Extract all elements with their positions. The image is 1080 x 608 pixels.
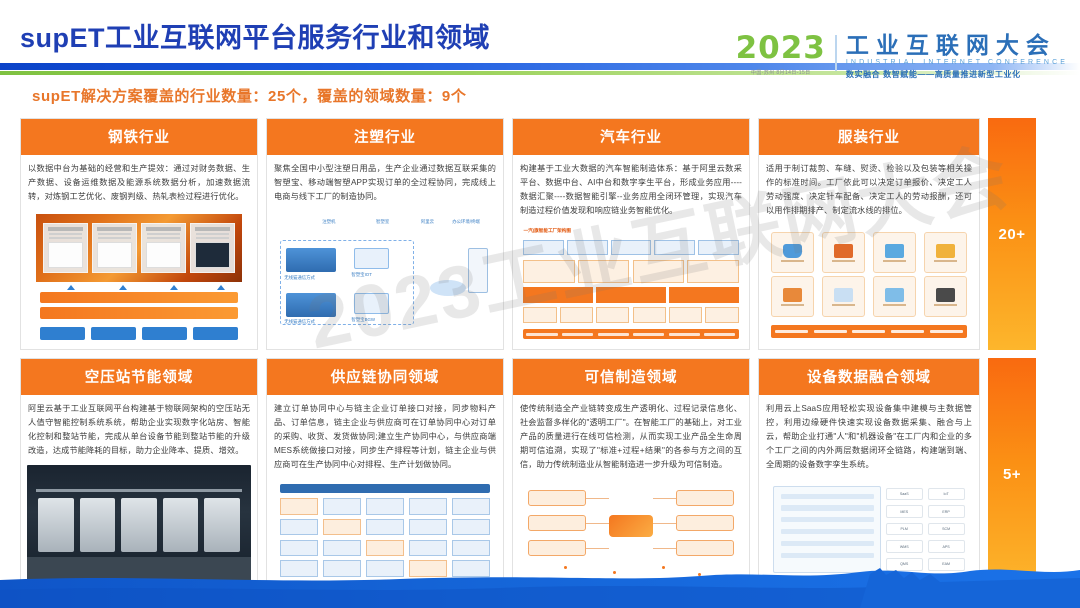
figure-label: 办公环境/终端 [452, 219, 480, 225]
card-description: 以数据中台为基础的经营和生产提效：通过对财务数据、生产数据、设备运维数据及能源系… [21, 155, 257, 207]
figure-injection-network: 注塑机 智塑室 阿里云 办公环境/终端 无线猫通信方式 无线猫通信方式 智塑宝I… [273, 211, 497, 343]
platform-logo: SaaS [886, 488, 923, 501]
platform-logo: MES [886, 505, 923, 518]
figure-label: 无线猫通信方式 [284, 319, 315, 325]
card-description: 使传统制造全产业链转变成生产透明化、过程记录信息化、社会监督多样化的"透明工厂"… [513, 395, 749, 476]
footer-wave-graphic [0, 566, 1080, 608]
footer-wave [0, 566, 1080, 608]
card-injection-molding[interactable]: 注塑行业 聚焦全国中小型注塑日用品，生产企业通过数据互联采集的智塑宝、移动端智塑… [266, 118, 504, 350]
figure-label: 智塑宝IOT [351, 272, 372, 278]
badge-domain-count: 5+ [988, 358, 1036, 590]
card-description: 适用于制订裁剪、车缝、熨烫、检验以及包装等相关操作的标准时间。工厂依此可以决定订… [759, 155, 979, 221]
apparel-icon-package [822, 276, 865, 317]
apparel-icon-inspect [771, 276, 814, 317]
card-automotive[interactable]: 汽车行业 构建基于工业大数据的汽车智能制造体系：基于阿里云数采平台、数据中台、A… [512, 118, 750, 350]
coverage-subtitle: supET解决方案覆盖的行业数量：25个，覆盖的领域数量：9个 [32, 85, 466, 106]
platform-logo: APS [928, 540, 965, 553]
logo-year-block: 2023 中国·苏州 8月14日-15日 [736, 33, 826, 76]
figure-steel-architecture [27, 211, 251, 343]
figure-automotive-architecture: 一汽)旗智能工厂架构图 [519, 225, 743, 343]
card-title: 注塑行业 [267, 119, 503, 155]
card-title: 空压站节能领域 [21, 359, 257, 395]
card-compressor-station[interactable]: 空压站节能领域 阿里云基于工业互联网平台构建基于物联网架构的空压站无人值守智能控… [20, 358, 258, 590]
logo-slogan: 数实融合 数智赋能——高质量推进新型工业化 [846, 69, 1068, 80]
card-equipment-data[interactable]: 设备数据融合领域 利用云上SaaS应用轻松实现设备集中建模与主数据管控，利用边缘… [758, 358, 980, 590]
figure-label: 智塑室 [376, 219, 389, 225]
apparel-icon-iron [924, 232, 967, 273]
figure-title: 一汽)旗智能工厂架构图 [523, 228, 570, 234]
platform-logo: SCM [928, 523, 965, 536]
apparel-icon-sew [873, 232, 916, 273]
platform-logo: WMS [886, 540, 923, 553]
card-description: 建立订单协同中心与链主企业订单接口对接，同步物料产品、订单信息，链主企业与供应商… [267, 395, 503, 476]
platform-logo: IoT [928, 488, 965, 501]
card-title: 汽车行业 [513, 119, 749, 155]
card-title: 钢铁行业 [21, 119, 257, 155]
card-trusted-manufacturing[interactable]: 可信制造领域 使传统制造全产业链转变成生产透明化、过程记录信息化、社会监督多样化… [512, 358, 750, 590]
card-description: 阿里云基于工业互联网平台构建基于物联网架构的空压站无人值守智能控制系统系统，帮助… [21, 395, 257, 461]
badge-industry-count: 20+ [988, 118, 1036, 350]
apparel-icon-tshirt [771, 232, 814, 273]
page-header: supET工业互联网平台服务行业和领域 2023 中国·苏州 8月14日-15日… [0, 0, 1080, 86]
logo-year: 2023 [736, 33, 826, 64]
figure-label: 无线猫通信方式 [284, 275, 315, 281]
apparel-icon-cut [822, 232, 865, 273]
logo-name-block: 工业互联网大会 INDUSTRIAL INTERNET CONFERENCE 数… [846, 33, 1068, 80]
apparel-icon-measure [873, 276, 916, 317]
conference-logo: 2023 中国·苏州 8月14日-15日 工业互联网大会 INDUSTRIAL … [736, 33, 1068, 80]
apparel-icon-machine [924, 276, 967, 317]
card-title: 供应链协同领域 [267, 359, 503, 395]
card-description: 聚焦全国中小型注塑日用品，生产企业通过数据互联采集的智塑宝、移动端智塑APP实现… [267, 155, 503, 207]
figure-label: 智塑宝BGW [351, 317, 375, 323]
card-description: 构建基于工业大数据的汽车智能制造体系：基于阿里云数采平台、数据中台、AI中台和数… [513, 155, 749, 221]
logo-name-cn: 工业互联网大会 [846, 33, 1068, 57]
platform-logo: PLM [886, 523, 923, 536]
card-steel[interactable]: 钢铁行业 以数据中台为基础的经营和生产提效：通过对财务数据、生产数据、设备运维数… [20, 118, 258, 350]
logo-divider [835, 35, 837, 71]
solutions-grid: 钢铁行业 以数据中台为基础的经营和生产提效：通过对财务数据、生产数据、设备运维数… [20, 118, 1060, 590]
logo-year-subtext: 中国·苏州 8月14日-15日 [736, 69, 826, 76]
figure-apparel-icons [765, 225, 973, 343]
figure-label: 注塑机 [322, 219, 335, 225]
card-title: 服装行业 [759, 119, 979, 155]
page-title: supET工业互联网平台服务行业和领域 [20, 16, 490, 55]
card-description: 利用云上SaaS应用轻松实现设备集中建模与主数据管控，利用边缘硬件快速实现设备数… [759, 395, 979, 476]
platform-logo: ERP [928, 505, 965, 518]
figure-label: 阿里云 [421, 219, 434, 225]
card-apparel[interactable]: 服装行业 适用于制订裁剪、车缝、熨烫、检验以及包装等相关操作的标准时间。工厂依此… [758, 118, 980, 350]
card-title: 可信制造领域 [513, 359, 749, 395]
card-title: 设备数据融合领域 [759, 359, 979, 395]
logo-name-en: INDUSTRIAL INTERNET CONFERENCE [846, 59, 1068, 66]
card-supply-chain[interactable]: 供应链协同领域 建立订单协同中心与链主企业订单接口对接，同步物料产品、订单信息，… [266, 358, 504, 590]
